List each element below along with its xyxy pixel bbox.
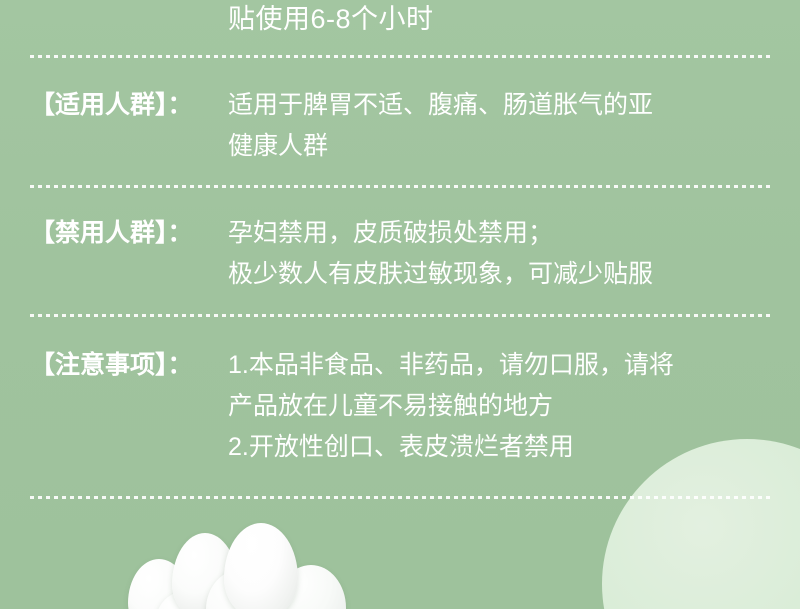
section-text-line: 健康人群 (228, 126, 770, 167)
section-text-line: 2.开放性创口、表皮溃烂者禁用 (228, 427, 770, 468)
divider-line-2 (30, 185, 770, 188)
section-label-prohibited-group: 【禁用人群】： (30, 213, 228, 254)
pebble-cluster-decoration (128, 525, 378, 609)
section-text-line: 产品放在儿童不易接触的地方 (228, 386, 770, 427)
pebble-shape (206, 569, 278, 609)
divider-line-4 (30, 496, 770, 499)
section-text-line: 极少数人有皮肤过敏现象，可减少贴服 (228, 254, 770, 295)
product-info-panel: 贴使用6-8个小时 【适用人群】： 适用于脾胃不适、腹痛、肠道胀气的亚 健康人群… (0, 0, 800, 609)
section-text-line: 孕妇禁用，皮质破损处禁用； (228, 213, 770, 254)
section-prohibited-group: 【禁用人群】： 孕妇禁用，皮质破损处禁用； 极少数人有皮肤过敏现象，可减少贴服 (30, 213, 770, 295)
section-suitable-group: 【适用人群】： 适用于脾胃不适、腹痛、肠道胀气的亚 健康人群 (30, 85, 770, 167)
section-text-line: 适用于脾胃不适、腹痛、肠道胀气的亚 (228, 85, 770, 126)
pebble-shape (224, 523, 298, 609)
section-body-prohibited-group: 孕妇禁用，皮质破损处禁用； 极少数人有皮肤过敏现象，可减少贴服 (228, 213, 770, 295)
pebble-shape (156, 591, 216, 609)
section-label-suitable-group: 【适用人群】： (30, 85, 228, 126)
top-heading-text: 贴使用6-8个小时 (228, 2, 434, 36)
pebble-shape (128, 559, 190, 609)
section-label-precautions: 【注意事项】： (30, 345, 228, 386)
pebble-shape (276, 565, 346, 609)
section-body-precautions: 1.本品非食品、非药品，请勿口服，请将 产品放在儿童不易接触的地方 2.开放性创… (228, 345, 770, 468)
section-precautions: 【注意事项】： 1.本品非食品、非药品，请勿口服，请将 产品放在儿童不易接触的地… (30, 345, 770, 468)
divider-line-1 (30, 55, 770, 58)
section-text-line: 1.本品非食品、非药品，请勿口服，请将 (228, 345, 770, 386)
section-body-suitable-group: 适用于脾胃不适、腹痛、肠道胀气的亚 健康人群 (228, 85, 770, 167)
pebble-shape (172, 533, 238, 609)
divider-line-3 (30, 314, 770, 317)
